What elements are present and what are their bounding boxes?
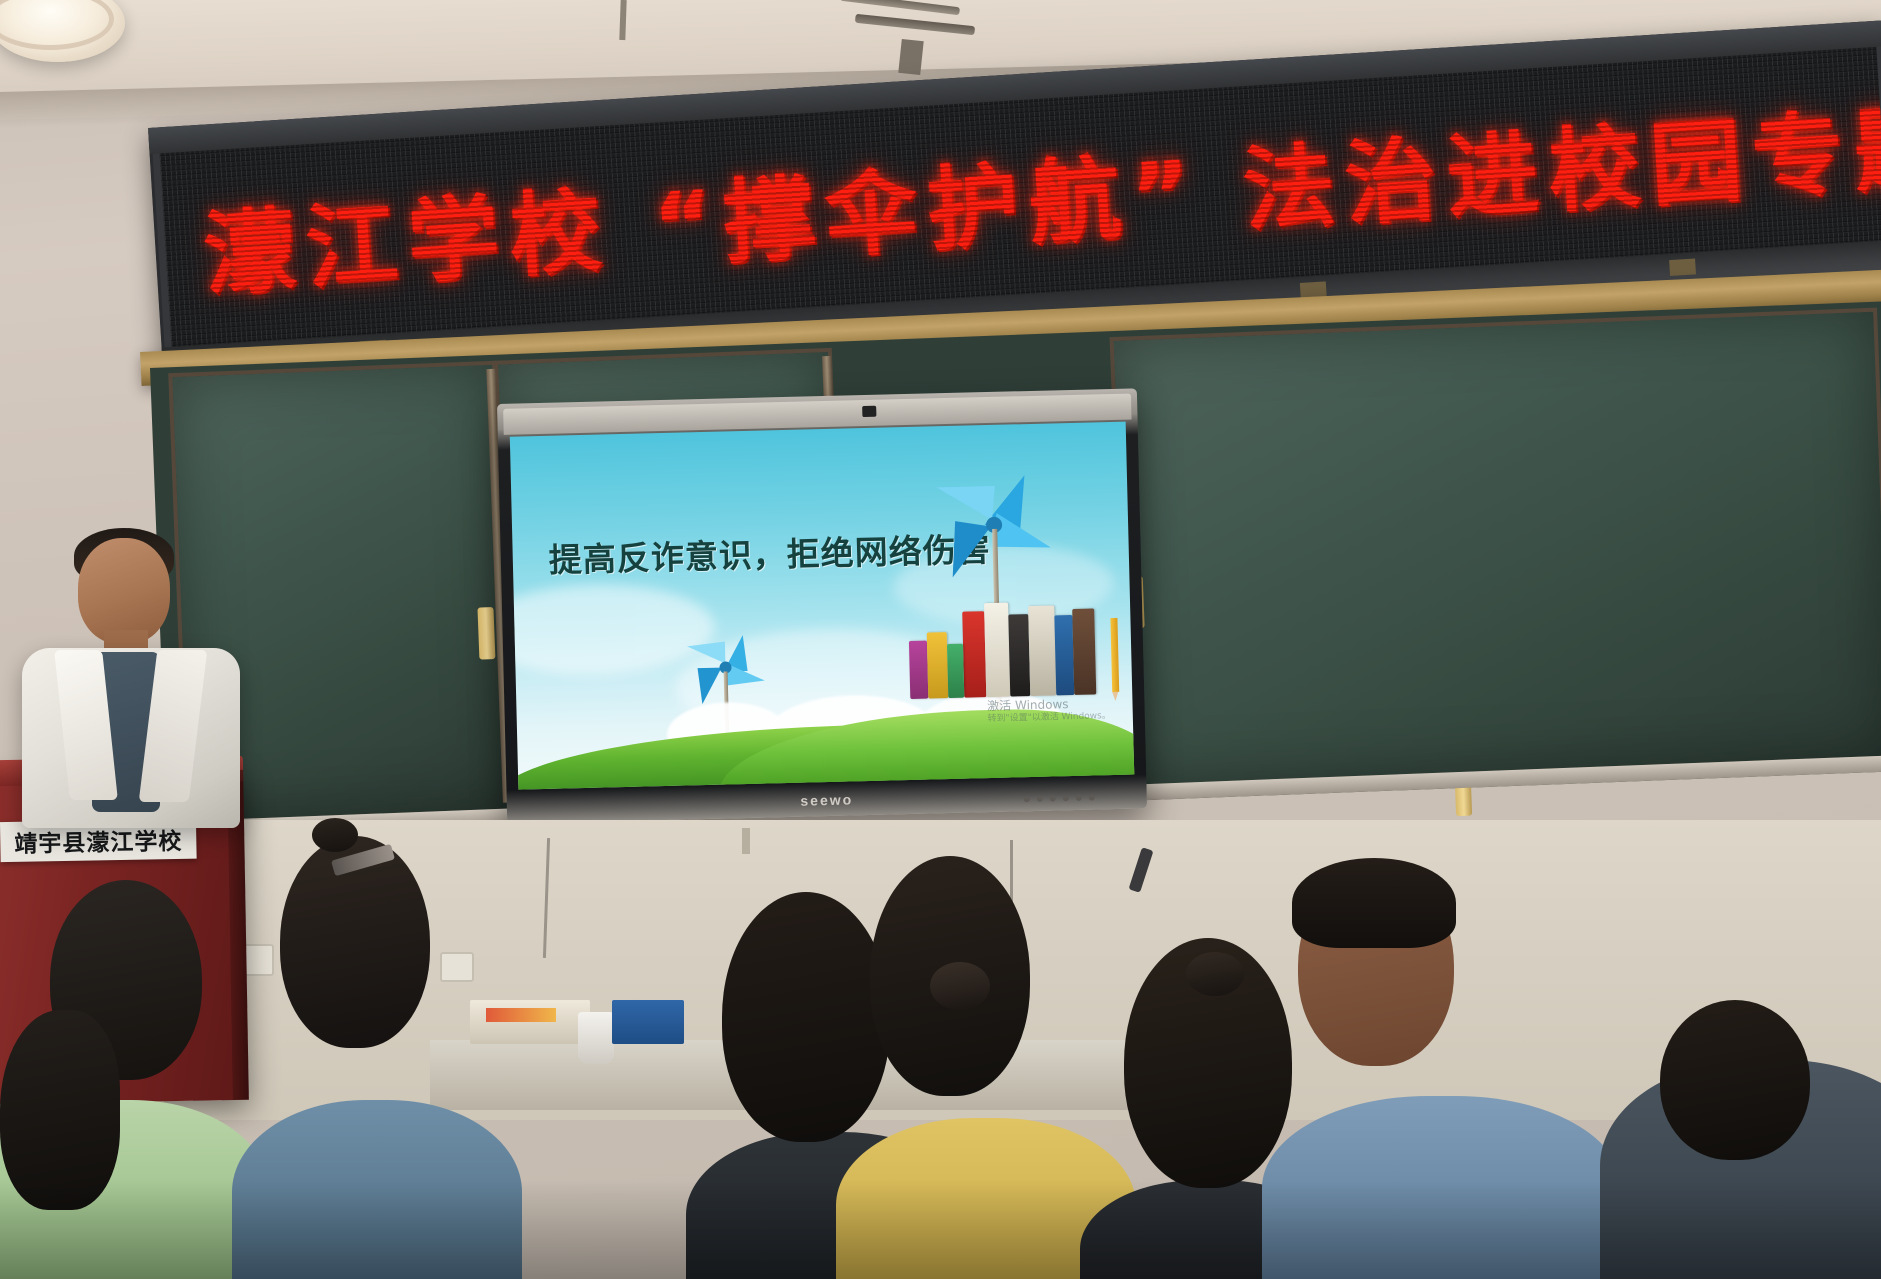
blackboard-latch-left <box>477 607 495 660</box>
board-button-1[interactable] <box>1024 796 1030 802</box>
foreground-vignette <box>0 1180 1881 1279</box>
interactive-smart-board[interactable]: 提高反诈意识，拒绝网络伤害 <box>497 388 1147 824</box>
paper-cup <box>578 1012 614 1064</box>
slide-book-8 <box>927 632 949 698</box>
audience-hair-6 <box>1292 858 1456 948</box>
ceiling-rail-bracket <box>898 39 923 75</box>
board-button-2[interactable] <box>1037 796 1043 802</box>
board-button-3[interactable] <box>1050 795 1056 801</box>
ceiling-lamp-ring <box>0 0 114 50</box>
slide-book-2 <box>984 603 1010 698</box>
speaker-head <box>78 538 170 644</box>
slide-pencil <box>1110 618 1119 692</box>
slide-book-9 <box>947 644 964 698</box>
slide-book-6 <box>1072 608 1096 695</box>
audience-hair-bun-5 <box>1186 952 1244 996</box>
blue-box <box>612 1000 684 1044</box>
slide-book-1 <box>962 611 986 698</box>
slide-book-3 <box>1008 614 1030 696</box>
led-bracket-right <box>1669 258 1696 276</box>
windows-activation-watermark: 激活 Windows 转到"设置"以激活 Windows。 <box>987 696 1111 726</box>
board-button-6[interactable] <box>1089 795 1095 801</box>
wall-outlet-2[interactable] <box>440 952 474 982</box>
blackboard-panel-right <box>1110 308 1881 789</box>
camera-icon <box>862 406 876 417</box>
audience-hair-bun-2 <box>312 818 358 852</box>
desk-magazine <box>486 1008 556 1022</box>
wall-hook <box>742 828 750 854</box>
slide-book-7 <box>909 641 928 699</box>
audience-hair-bun-4 <box>930 962 990 1010</box>
pinwheel-large <box>931 463 1064 596</box>
seewo-logo: seewo <box>800 791 853 808</box>
board-button-5[interactable] <box>1076 795 1082 801</box>
audience-head-3 <box>722 892 890 1142</box>
board-button-4[interactable] <box>1063 795 1069 801</box>
slide-book-4 <box>1028 605 1056 696</box>
desk-papers <box>470 1000 590 1044</box>
photo-scene: 濛江学校 “撑伞护航” 法治进校园专题讲座 提高反诈意识，拒绝网络伤害 <box>0 0 1881 1279</box>
slide-book-5 <box>1054 615 1074 695</box>
presentation-slide: 提高反诈意识，拒绝网络伤害 <box>510 422 1134 790</box>
audience-head-7 <box>1660 1000 1810 1160</box>
